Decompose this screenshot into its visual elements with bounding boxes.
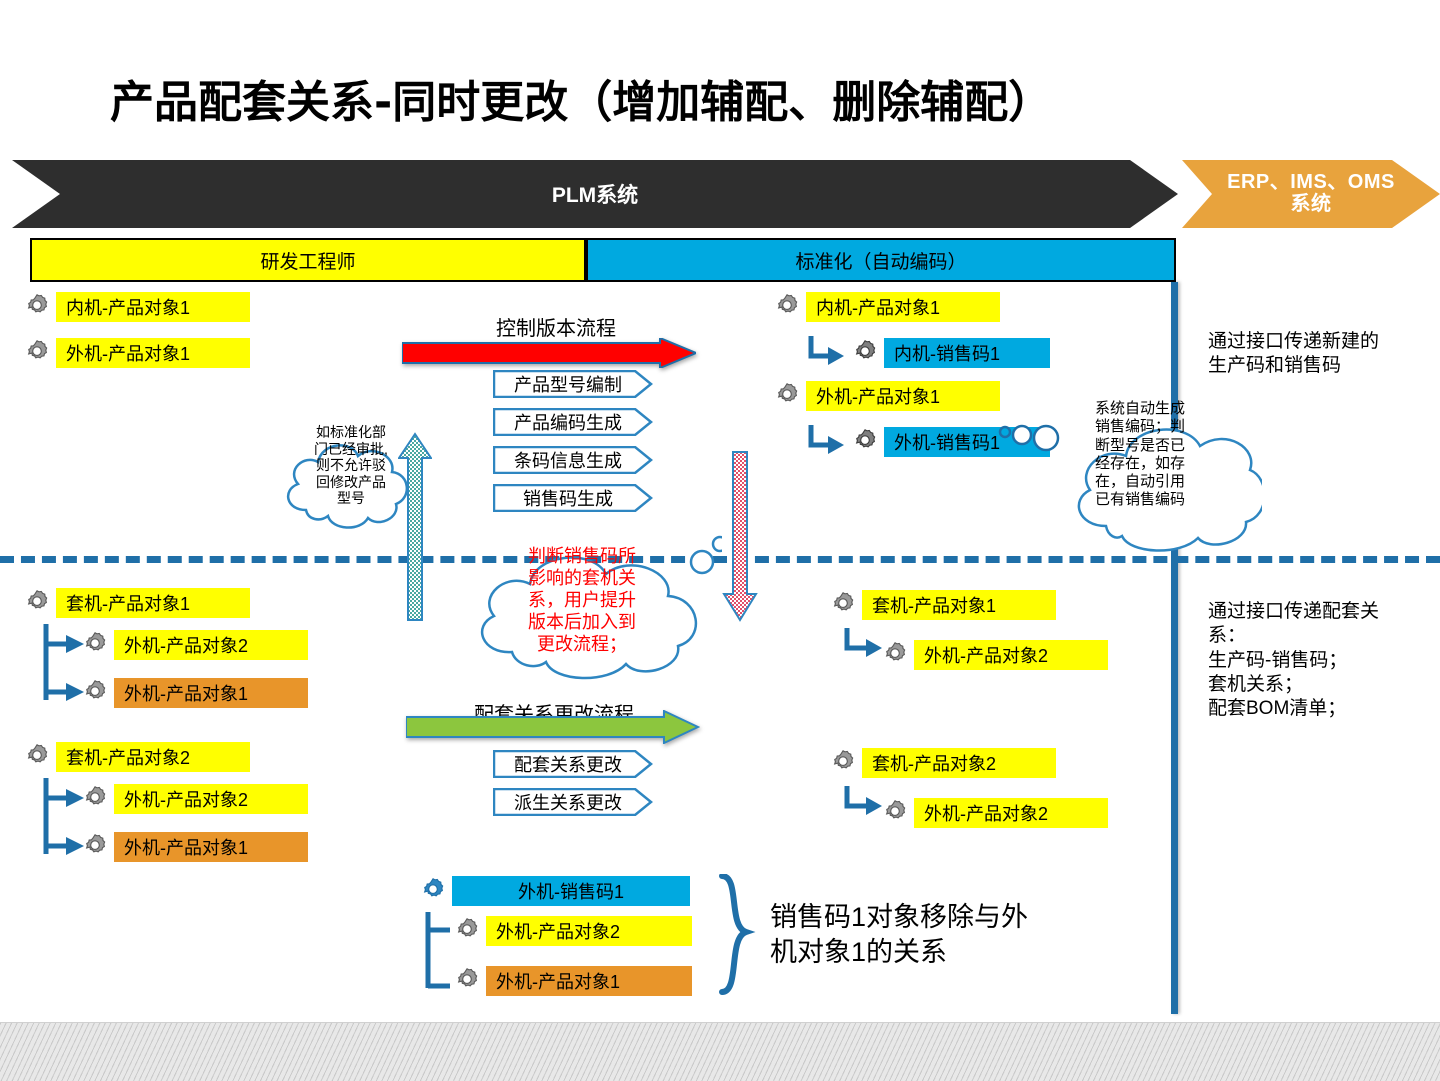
node-label: 外机-产品对象2 [486,916,692,946]
node-row: 外机-产品对象1 [772,381,1000,411]
node-row: 外机-产品对象1 [22,338,250,368]
erp-banner-label: ERP、IMS、OMS 系统 [1227,172,1395,215]
node-row: 外机-产品对象1 [452,966,692,996]
gear-icon [80,832,110,862]
gear-icon [452,916,482,946]
node-row: 套机-产品对象1 [22,588,250,618]
gear-icon [880,798,910,828]
cloud-center-text: 判断销售码所 影响的套机关 系，用户提升 版本后加入到 更改流程； [497,546,667,656]
gear-icon [452,966,482,996]
gear-icon [828,590,858,620]
flow-version-label: 控制版本流程 [496,312,616,341]
node-label: 外机-产品对象1 [56,338,250,368]
gear-icon [850,427,880,457]
lane-header-standardization: 标准化（自动编码） [586,238,1176,282]
vertical-divider [1171,282,1178,1014]
bottom-texture-strip [0,1022,1440,1081]
node-label: 外机-产品对象1 [114,678,308,708]
cloud-left-text: 如标准化部 门已经审批, 则不允许驳 回修改产品 型号 [296,424,406,507]
right-note-bottom: 通过接口传递配套关 系： 生产码-销售码； 套机关系； 配套BOM清单； [1208,600,1436,722]
gear-icon [772,292,802,322]
node-label: 外机-产品对象1 [806,381,1000,411]
curly-brace-icon [712,874,758,996]
node-label: 内机-产品对象1 [806,292,1000,322]
down-arrow-red-icon [722,450,758,622]
up-arrow-teal-icon [398,432,432,622]
flow-step-label: 配套关系更改 [493,750,643,778]
node-row: 外机-产品对象2 [880,798,1108,828]
gear-icon [22,292,52,322]
plm-system-banner: PLM系统 [12,160,1178,228]
node-label: 外机-产品对象2 [114,630,308,660]
node-row: 外机-产品对象1 [80,678,308,708]
gear-icon [418,876,448,906]
gear-icon [80,784,110,814]
thought-bubbles-icon [996,418,1066,458]
lane-rd-label: 研发工程师 [260,247,355,274]
page-title: 产品配套关系-同时更改（增加辅配、删除辅配） [110,66,1052,130]
node-row: 外机-产品对象2 [80,784,308,814]
gear-icon [22,338,52,368]
flow-step-label: 产品型号编制 [493,370,643,398]
elbow-arrow-icon [842,784,884,818]
node-label: 外机-产品对象1 [486,966,692,996]
node-row: 套机-产品对象1 [828,590,1056,620]
node-label: 内机-产品对象1 [56,292,250,322]
node-row: 内机-销售码1 [820,338,1050,368]
right-note-top: 通过接口传递新建的 生产码和销售码 [1208,330,1428,379]
gear-icon [80,630,110,660]
green-flow-arrow-icon [406,710,700,744]
node-label: 套机-产品对象2 [56,742,250,772]
red-flow-arrow-icon [402,338,696,368]
node-label: 外机-产品对象1 [114,832,308,862]
node-label: 外机-产品对象2 [914,798,1108,828]
gear-icon [22,588,52,618]
node-label: 套机-产品对象2 [862,748,1056,778]
cloud-right-text: 系统自动生成 销售编码；判 断型号是否已 经存在，如存 在，自动引用 已有销售编… [1095,400,1223,510]
gear-icon [772,381,802,411]
gear-icon [80,678,110,708]
node-label: 套机-产品对象1 [862,590,1056,620]
flow-step-label: 产品编码生成 [493,408,643,436]
gear-icon [880,640,910,670]
flow-step-label: 派生关系更改 [493,788,643,816]
node-label: 外机-产品对象2 [914,640,1108,670]
node-row: 外机-产品对象1 [80,832,308,862]
tree-connector-icon [424,910,454,996]
node-row: 外机-产品对象2 [880,640,1108,670]
sales-group-annotation: 销售码1对象移除与外 机对象1的关系 [770,900,1080,970]
node-row: 内机-产品对象1 [22,292,250,322]
node-row: 套机-产品对象2 [22,742,250,772]
flow-step-label: 销售码生成 [493,484,643,512]
gear-icon [828,748,858,778]
node-row: 外机-产品对象2 [452,916,692,946]
elbow-arrow-icon [842,626,884,660]
node-label: 套机-产品对象1 [56,588,250,618]
lane-std-label: 标准化（自动编码） [795,247,966,274]
node-label: 内机-销售码1 [884,338,1050,368]
node-row: 内机-产品对象1 [772,292,1000,322]
erp-system-banner: ERP、IMS、OMS 系统 [1182,160,1440,228]
node-row: 外机-产品对象2 [80,630,308,660]
diagram-canvas: 产品配套关系-同时更改（增加辅配、删除辅配） PLM系统 ERP、IMS、OMS… [0,0,1440,1080]
node-row: 套机-产品对象2 [828,748,1056,778]
node-row: 外机-销售码1 [418,876,690,906]
node-label: 外机-销售码1 [452,876,690,906]
node-label: 外机-产品对象2 [114,784,308,814]
gear-icon [22,742,52,772]
flow-step-label: 条码信息生成 [493,446,643,474]
plm-banner-label: PLM系统 [552,179,638,209]
gear-icon [850,338,880,368]
lane-header-rd-engineer: 研发工程师 [30,238,586,282]
